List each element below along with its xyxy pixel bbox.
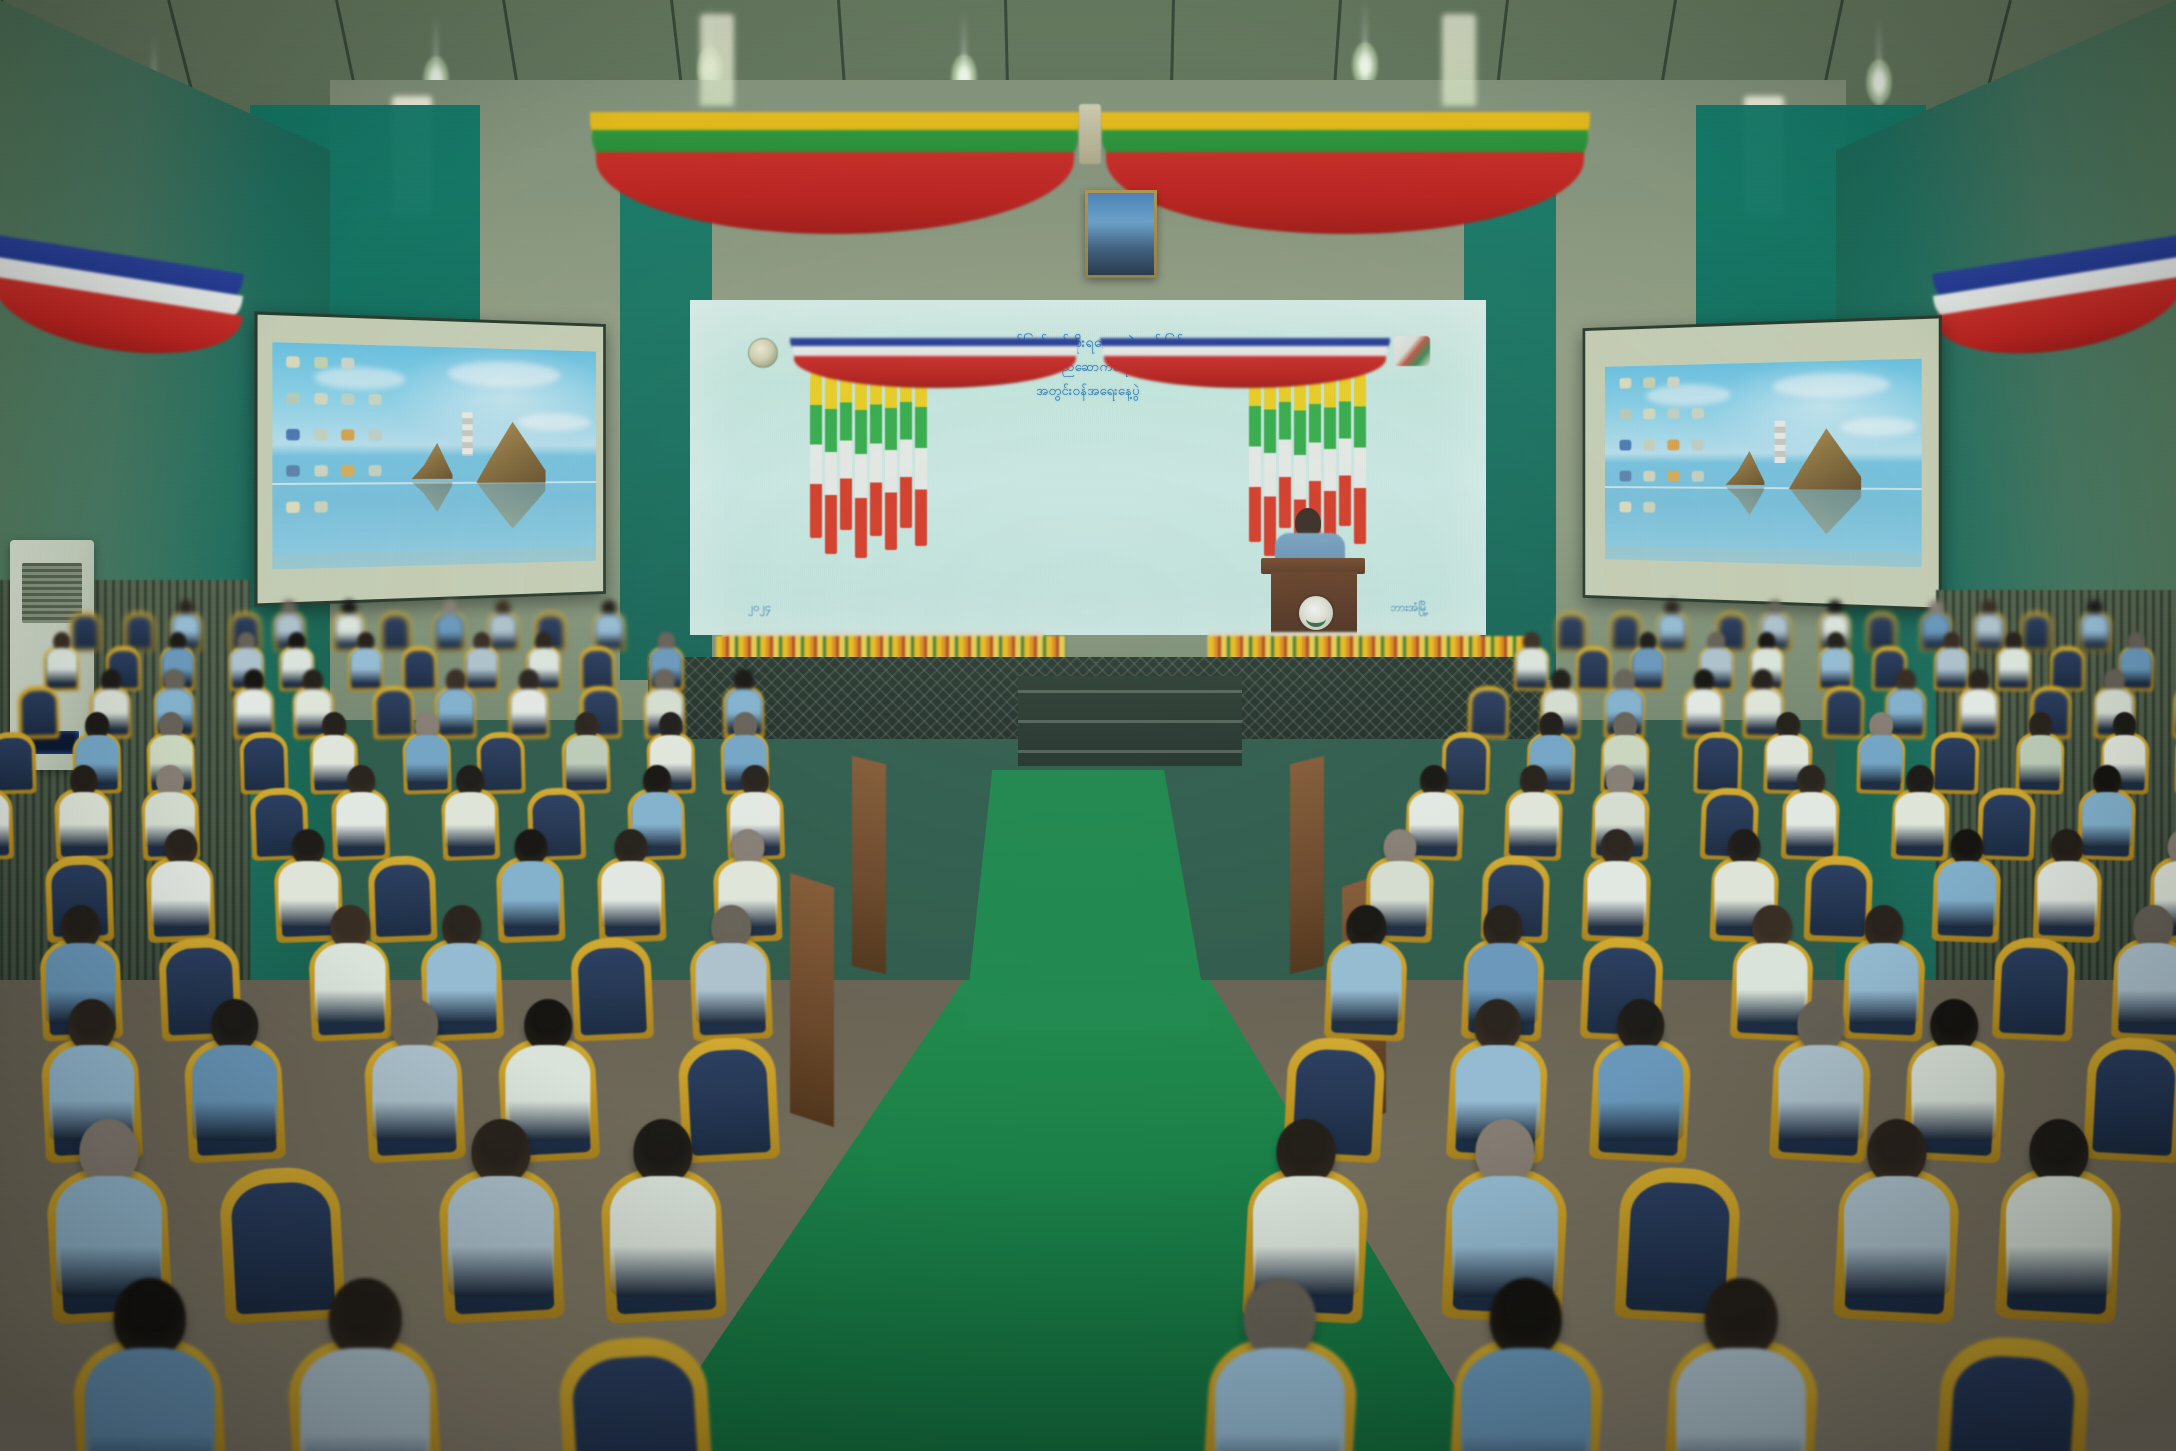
chair-back-pad: [583, 650, 613, 688]
chair-back-pad: [2000, 947, 2069, 1035]
audience-head: [211, 999, 259, 1051]
audience-head: [1483, 905, 1522, 949]
audience-torso: [2006, 1176, 2112, 1296]
desktop-icon: [286, 501, 300, 513]
wall-light-panel-right-2: [1442, 14, 1476, 106]
audience-torso: [1786, 792, 1836, 849]
desktop-icon: [1643, 377, 1655, 388]
desktop-icon: [369, 394, 382, 405]
desktop-icon: [314, 501, 327, 512]
audience-torso: [696, 943, 767, 1023]
audience-torso: [511, 689, 547, 730]
audience-torso: [300, 1348, 430, 1451]
audience-torso: [192, 1045, 277, 1142]
audience-torso: [1844, 1176, 1950, 1296]
wallpaper-lighthouse: [1774, 421, 1785, 463]
audience-torso: [46, 648, 77, 683]
audience-torso: [1461, 1348, 1591, 1451]
audience-member: [1958, 666, 1999, 739]
desktop-icon: [1620, 409, 1632, 420]
desktop-icon: [1667, 471, 1679, 482]
desktop-icon: [342, 429, 355, 440]
audience-member: [55, 760, 112, 860]
audience-torso: [336, 792, 386, 849]
audience-member: [291, 1266, 439, 1451]
audience-member: [2016, 708, 2064, 793]
audience-torso: [1820, 648, 1851, 683]
audience-member: [233, 666, 274, 739]
wallpaper-lighthouse: [462, 413, 473, 457]
audience-head: [1474, 999, 1522, 1051]
audience-torso: [151, 861, 210, 928]
wallpaper-rock-small-reflection: [412, 482, 453, 512]
wallpaper-rock-small: [412, 443, 453, 479]
desktop-icon: [342, 465, 355, 476]
banner-location: ဘားအံမြို့: [1390, 601, 1428, 617]
audience-head: [1244, 1278, 1317, 1358]
audience-head: [1490, 1278, 1563, 1358]
chair-back-pad: [126, 616, 152, 649]
wall-light-panel-left-2: [700, 14, 734, 106]
audience-torso: [565, 735, 608, 783]
desktop-icon: [1643, 502, 1655, 513]
audience-torso: [610, 1176, 716, 1296]
framed-portrait: [1085, 190, 1157, 278]
stage-steps: [1018, 676, 1242, 766]
projected-desktop-right: [1605, 359, 1922, 568]
audience-torso: [236, 689, 272, 730]
audience-member: [1452, 1266, 1600, 1451]
projection-screen-right: [1583, 315, 1942, 611]
chair-back-pad: [21, 691, 56, 736]
audience-member: [0, 760, 13, 860]
desktop-icon: [314, 465, 327, 476]
chair-back-pad: [1698, 738, 1739, 791]
audience-head: [2133, 905, 2172, 949]
audience-block-right: [1246, 620, 2176, 1451]
chair-back-pad: [1558, 616, 1584, 649]
audience-member: [1837, 1109, 1957, 1321]
step-edge: [1018, 750, 1242, 753]
audience-chair: [580, 646, 616, 692]
banner-date: ၂၀၂၄: [748, 601, 771, 617]
chair-back-pad: [383, 616, 409, 649]
wallpaper-rock-small-reflection: [1726, 487, 1765, 515]
audience-torso: [2118, 943, 2176, 1023]
desktop-icon: [286, 356, 300, 368]
audience-torso: [1587, 861, 1646, 928]
audience-member: [1592, 990, 1689, 1161]
audience-head: [711, 905, 750, 949]
audience-member: [76, 1266, 224, 1451]
audience-member: [1782, 760, 1839, 860]
audience-head: [331, 905, 370, 949]
desktop-icon: [1667, 377, 1679, 388]
audience-torso: [2038, 861, 2097, 928]
desktop-icon: [1667, 439, 1679, 450]
ceiling-spot-light: [1866, 59, 1892, 105]
audience-member: [691, 899, 771, 1040]
audience-head: [2030, 1119, 2089, 1184]
desktop-icon: [1620, 471, 1632, 482]
desktop-icon: [1643, 471, 1655, 482]
audience-torso: [350, 648, 381, 683]
audience-head: [1346, 905, 1385, 949]
audience-head: [1705, 1278, 1778, 1358]
audience-chair: [2050, 646, 2086, 692]
audience-member: [1206, 1266, 1354, 1451]
desktop-icon: [1620, 378, 1632, 389]
audience-torso: [1686, 689, 1722, 730]
audience-chair: [401, 646, 437, 692]
audience-torso: [1598, 1045, 1683, 1142]
taskbar: [272, 546, 596, 569]
audience-member: [1683, 666, 1724, 739]
audience-member: [434, 597, 465, 651]
desktop-icon: [1692, 439, 1704, 450]
audience-chair: [1992, 936, 2077, 1041]
audience-head: [1867, 1119, 1926, 1184]
audience-chair: [1694, 731, 1744, 794]
desktop-icon: [1620, 440, 1632, 451]
desktop-icon: [1692, 408, 1704, 419]
desktop-icon: [369, 465, 382, 476]
desktop-icon: [1643, 440, 1655, 451]
audience-member: [348, 629, 383, 691]
audience-member: [1999, 1109, 2119, 1321]
audience-torso: [2082, 614, 2109, 645]
audience-head: [79, 1119, 138, 1184]
audience-head: [524, 999, 572, 1051]
desktop-icon: [1667, 408, 1679, 419]
desktop-icon: [1692, 471, 1704, 482]
wallpaper-rock-large: [1789, 428, 1862, 490]
audience-head: [471, 1119, 530, 1184]
audience-head: [68, 999, 116, 1051]
audience-member: [598, 823, 665, 942]
desktop-icon: [342, 358, 355, 370]
audience-chair: [557, 1334, 716, 1451]
step-edge: [1018, 720, 1242, 723]
chair-back-pad: [1826, 691, 1861, 736]
projected-desktop-left: [272, 342, 596, 569]
desktop-icon: [1620, 502, 1632, 513]
audience-member: [441, 1109, 561, 1321]
audience-member: [442, 760, 499, 860]
audience-member: [508, 666, 549, 739]
audience-member: [594, 597, 625, 651]
audience-member: [2080, 597, 2111, 651]
audience-member: [1818, 629, 1853, 691]
audience-torso: [1998, 648, 2029, 683]
audience-head: [1930, 999, 1978, 1051]
desktop-icon: [286, 465, 300, 476]
audience-torso: [85, 1348, 215, 1451]
audience-torso: [1215, 1348, 1345, 1451]
audience-torso: [1676, 1348, 1806, 1451]
audience-torso: [448, 1176, 554, 1296]
audience-torso: [436, 614, 463, 645]
step-edge: [1018, 690, 1242, 693]
audience-member: [603, 1109, 723, 1321]
audience-member: [1996, 629, 2031, 691]
audience-head: [634, 1119, 693, 1184]
desktop-icon: [1643, 408, 1655, 419]
audience-chair: [1933, 1334, 2092, 1451]
audience-chair: [1467, 685, 1510, 739]
chair-back-pad: [1947, 1353, 2077, 1451]
audience-torso: [2019, 735, 2062, 783]
audience-member: [44, 629, 79, 691]
chair-back-pad: [405, 650, 435, 688]
audience-member: [497, 823, 564, 942]
audience-member: [1583, 823, 1650, 942]
audience-member: [1933, 823, 2000, 942]
projection-screen-left: [254, 311, 605, 606]
audience-head: [114, 1278, 187, 1358]
desktop-icon: [314, 429, 327, 440]
taskbar: [1605, 546, 1922, 568]
audience-torso: [1331, 943, 1402, 1023]
audience-torso: [596, 614, 623, 645]
desktop-icon: [342, 393, 355, 404]
chair-back-pad: [1471, 691, 1506, 736]
wallpaper-rock-small: [1726, 451, 1765, 485]
audience-member: [186, 990, 283, 1161]
audience-head: [329, 1278, 402, 1358]
desktop-icon: [286, 429, 300, 440]
audience-torso: [59, 792, 109, 849]
audience-block-left: [0, 620, 930, 1451]
audience-head: [1277, 1119, 1336, 1184]
conference-hall-photo: ကရင်ပြည်နယ် စိုးရရေးအဖွဲ့ ညွှန်းမြင့် ကရ…: [0, 0, 2176, 1451]
audience-member: [2034, 823, 2101, 942]
audience-head: [391, 999, 439, 1051]
chair-back-pad: [1868, 616, 1894, 649]
desktop-icon: [369, 429, 382, 440]
audience-member: [1326, 899, 1406, 1040]
audience-head: [1753, 905, 1792, 949]
audience-member: [2113, 899, 2176, 1040]
audience-head: [1864, 905, 1903, 949]
audience-head: [1797, 999, 1845, 1051]
wallpaper-rock-large-reflection: [476, 482, 545, 530]
audience-head: [1475, 1119, 1534, 1184]
desktop-icon: [314, 393, 327, 405]
audience-head: [2168, 829, 2176, 865]
audience-torso: [1937, 861, 1996, 928]
audience-torso: [1509, 792, 1559, 849]
wallpaper-rock-large-reflection: [1789, 487, 1862, 535]
wallpaper-rock-large: [476, 421, 545, 482]
chair-back-pad: [2053, 650, 2083, 688]
audience-torso: [602, 861, 661, 928]
audience-member: [147, 823, 214, 942]
desktop-icon: [314, 357, 327, 369]
audience-member: [1505, 760, 1562, 860]
audience-torso: [501, 861, 560, 928]
chair-back-pad: [244, 738, 285, 791]
audience-member: [1667, 1266, 1815, 1451]
audience-head: [61, 905, 100, 949]
audience-member: [562, 708, 610, 793]
audience-head: [442, 905, 481, 949]
audience-torso: [0, 792, 9, 849]
backdrop-swag-group: [790, 338, 1390, 408]
audience-torso: [1961, 689, 1997, 730]
audience-head: [1617, 999, 1665, 1051]
desktop-icon: [286, 392, 300, 404]
audience-chair: [240, 731, 290, 794]
audience-torso: [446, 792, 496, 849]
